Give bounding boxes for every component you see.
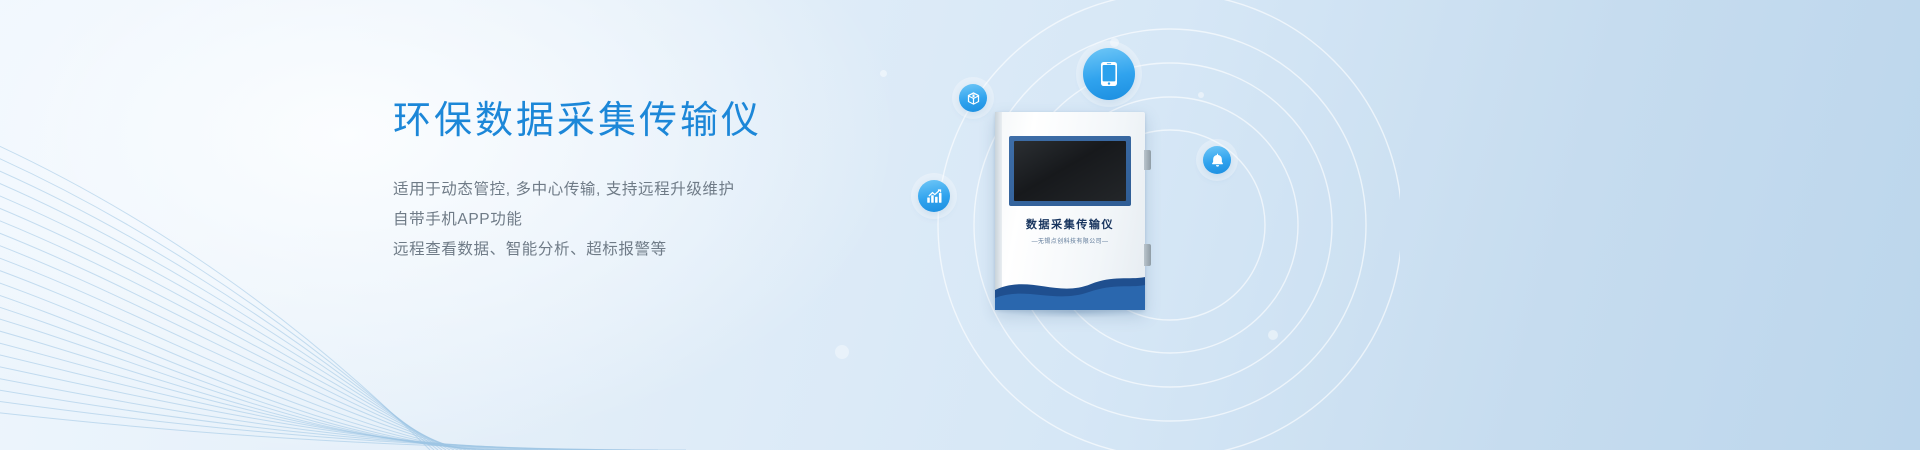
page-title: 环保数据采集传输仪 (393, 98, 913, 146)
phone-icon[interactable] (1083, 48, 1135, 100)
banner-text-block: 环保数据采集传输仪 适用于动态管控, 多中心传输, 支持远程升级维护 自带手机A… (393, 98, 913, 265)
subtitle-line-3: 远程查看数据、智能分析、超标报警等 (393, 235, 913, 265)
device-screen (1014, 141, 1126, 201)
device-hinge-top (1144, 150, 1151, 170)
product-device: 数据采集传输仪 —无锡点创科技有限公司— (995, 112, 1145, 310)
device-company: —无锡点创科技有限公司— (995, 236, 1145, 245)
subtitle-line-2: 自带手机APP功能 (393, 205, 913, 235)
device-screen-frame (1009, 136, 1131, 206)
bokeh-dot (880, 70, 887, 77)
subtitle-list: 适用于动态管控, 多中心传输, 支持远程升级维护 自带手机APP功能 远程查看数… (393, 175, 913, 265)
device-title: 数据采集传输仪 (995, 216, 1145, 232)
device-hinge-bottom (1144, 244, 1151, 266)
subtitle-line-1: 适用于动态管控, 多中心传输, 支持远程升级维护 (393, 175, 913, 205)
alarm-icon[interactable] (1203, 146, 1231, 174)
box-icon[interactable] (959, 84, 987, 112)
bokeh-dot (1198, 92, 1204, 98)
product-banner: 环保数据采集传输仪 适用于动态管控, 多中心传输, 支持远程升级维护 自带手机A… (0, 0, 1920, 450)
chart-icon[interactable] (918, 180, 950, 212)
bokeh-dot (1110, 38, 1119, 47)
bokeh-dot (835, 345, 849, 359)
bokeh-dot (1268, 330, 1278, 340)
device-wave-graphic (995, 268, 1145, 310)
